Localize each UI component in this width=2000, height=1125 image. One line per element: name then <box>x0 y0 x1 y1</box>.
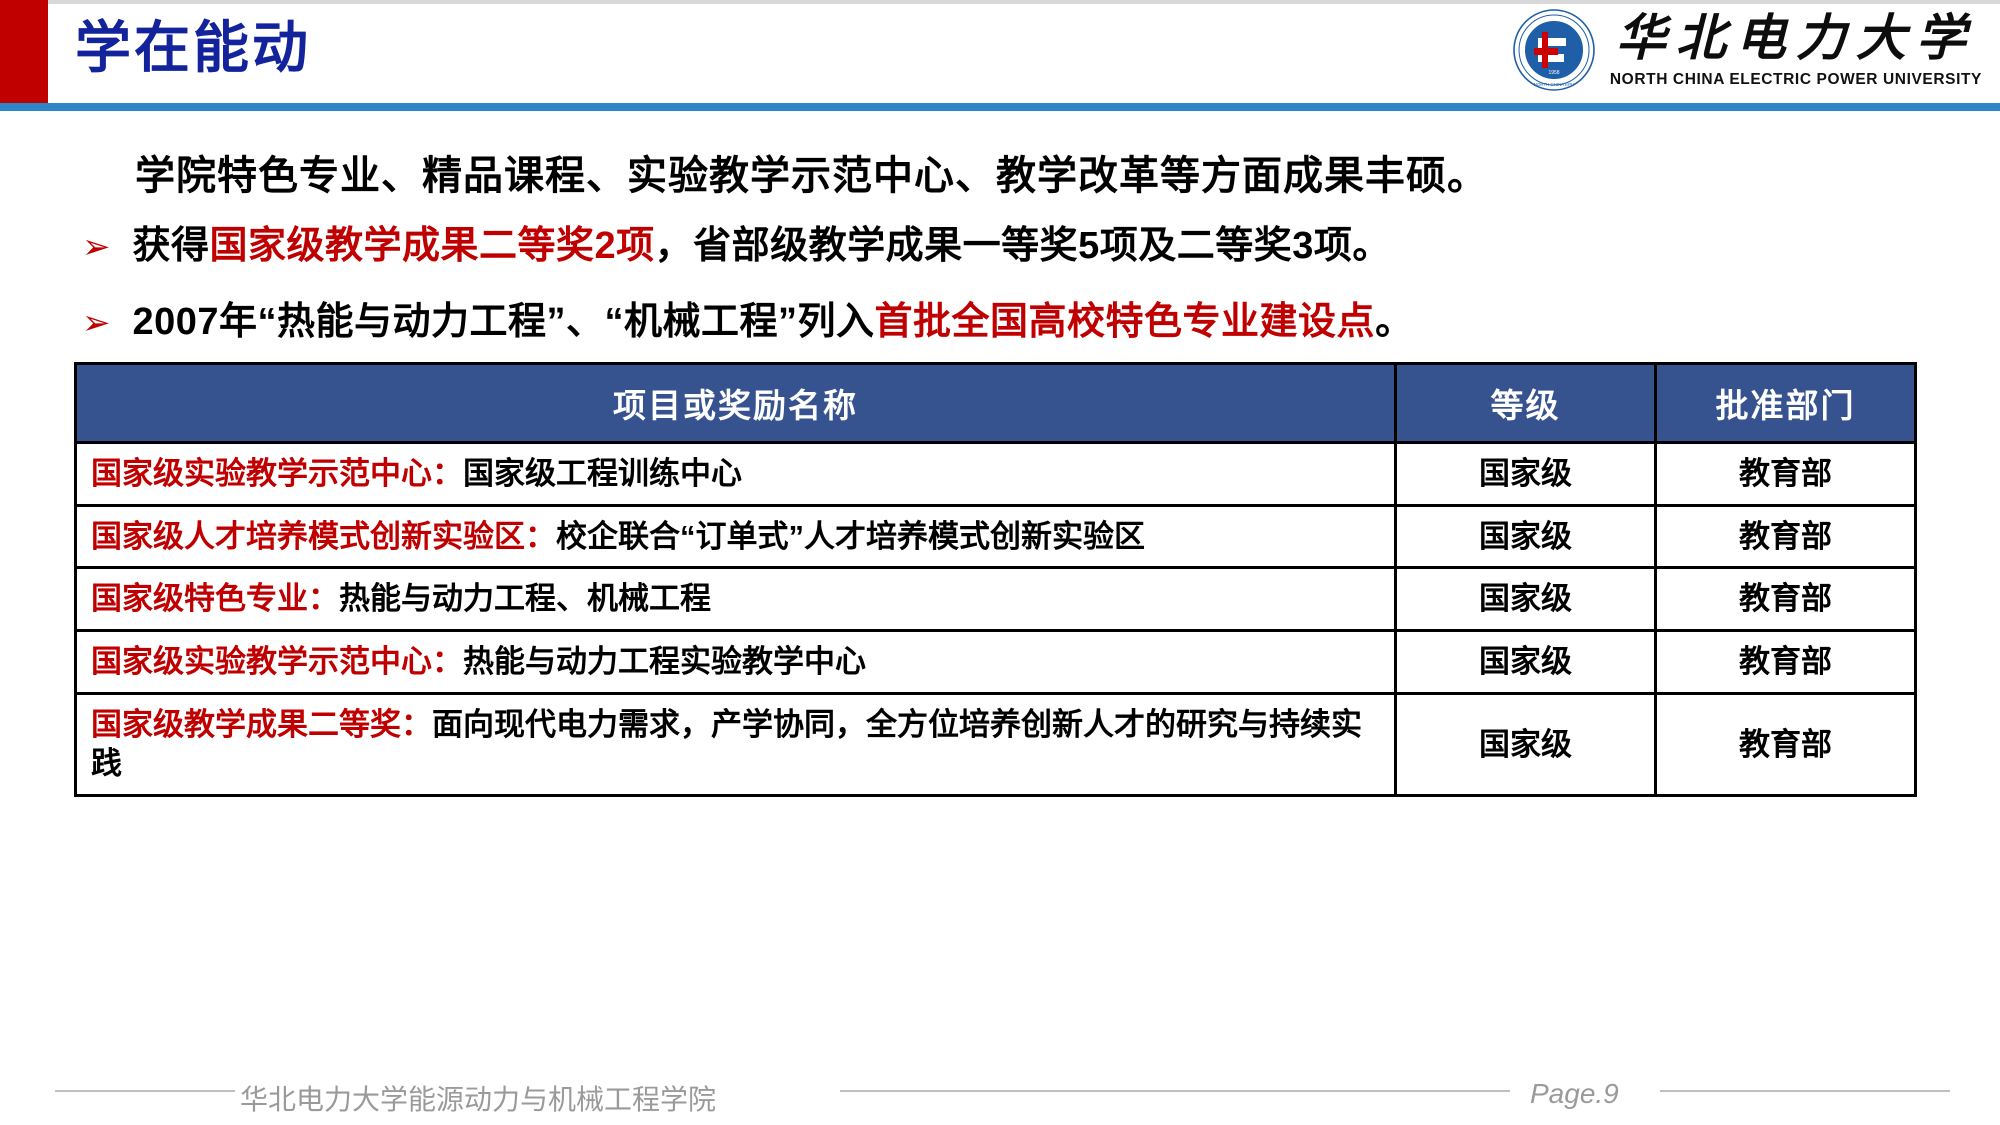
logo-name-en: NORTH CHINA ELECTRIC POWER UNIVERSITY <box>1610 72 1982 88</box>
column-header-dept: 批准部门 <box>1656 364 1916 443</box>
project-name-detail: 国家级工程训练中心 <box>463 456 742 491</box>
cell-project-name: 国家级实验教学示范中心：国家级工程训练中心 <box>76 443 1396 506</box>
intro-paragraph: 学院特色专业、精品课程、实验教学示范中心、教学改革等方面成果丰硕。 <box>135 143 1488 201</box>
bullet-2-seg-1: 首批全国高校特色专业建设点 <box>875 301 1376 343</box>
project-name-highlight: 国家级实验教学示范中心： <box>91 644 463 679</box>
footer-rule-center <box>840 1090 1510 1092</box>
header-white-rule <box>0 111 2000 114</box>
table-header-row: 项目或奖励名称 等级 批准部门 <box>76 364 1916 443</box>
project-name-detail: 热能与动力工程、机械工程 <box>339 581 711 616</box>
footer-organization: 华北电力大学能源动力与机械工程学院 <box>240 1078 716 1118</box>
bullet-1-seg-2: ，省部级教学成果一等奖5项及二等奖3项。 <box>655 225 1391 267</box>
footer-rule-right <box>1660 1090 1950 1092</box>
bullet-arrow-icon: ➢ <box>82 230 111 264</box>
table-row: 国家级教学成果二等奖：面向现代电力需求，产学协同，全方位培养创新人才的研究与持续… <box>76 693 1916 795</box>
svg-text:1958: 1958 <box>1548 70 1559 76</box>
cell-project-name: 国家级特色专业：热能与动力工程、机械工程 <box>76 568 1396 631</box>
cell-project-name: 国家级教学成果二等奖：面向现代电力需求，产学协同，全方位培养创新人才的研究与持续… <box>76 693 1396 795</box>
project-name-detail: 热能与动力工程实验教学中心 <box>463 644 866 679</box>
header-top-rule <box>48 0 2000 4</box>
cell-dept: 教育部 <box>1656 631 1916 694</box>
bullet-1-seg-0: 获得 <box>133 225 210 267</box>
cell-dept: 教育部 <box>1656 568 1916 631</box>
table-row: 国家级人才培养模式创新实验区：校企联合“订单式”人才培养模式创新实验区 国家级 … <box>76 505 1916 568</box>
cell-dept: 教育部 <box>1656 693 1916 795</box>
project-name-highlight: 国家级人才培养模式创新实验区： <box>91 519 556 554</box>
cell-project-name: 国家级实验教学示范中心：热能与动力工程实验教学中心 <box>76 631 1396 694</box>
ncepu-emblem-icon: 1958 NORTH CHINA EPU <box>1512 8 1596 92</box>
cell-level: 国家级 <box>1396 631 1656 694</box>
svg-text:NORTH CHINA EPU: NORTH CHINA EPU <box>1534 82 1574 87</box>
cell-level: 国家级 <box>1396 693 1656 795</box>
column-header-level: 等级 <box>1396 364 1656 443</box>
project-name-highlight: 国家级特色专业： <box>91 581 339 616</box>
footer-page-number: Page.9 <box>1530 1078 1619 1110</box>
header-blue-rule <box>0 103 2000 111</box>
project-name-highlight: 国家级教学成果二等奖： <box>91 707 432 742</box>
cell-level: 国家级 <box>1396 568 1656 631</box>
bullet-1-seg-1: 国家级教学成果二等奖2项 <box>210 225 655 267</box>
table-row: 国家级实验教学示范中心：热能与动力工程实验教学中心 国家级 教育部 <box>76 631 1916 694</box>
bullet-item-2: ➢ 2007年“热能与动力工程”、“机械工程”列入首批全国高校特色专业建设点。 <box>82 290 1414 345</box>
university-logo: 1958 NORTH CHINA EPU 华北电力大学 NORTH CHINA … <box>1512 8 1982 92</box>
logo-name-cn: 华北电力大学 <box>1616 13 1976 63</box>
bullet-2-seg-0: 2007年“热能与动力工程”、“机械工程”列入 <box>133 301 875 343</box>
bullet-text-2: 2007年“热能与动力工程”、“机械工程”列入首批全国高校特色专业建设点。 <box>133 290 1414 345</box>
table-row: 国家级特色专业：热能与动力工程、机械工程 国家级 教育部 <box>76 568 1916 631</box>
cell-dept: 教育部 <box>1656 505 1916 568</box>
column-header-name: 项目或奖励名称 <box>76 364 1396 443</box>
awards-table: 项目或奖励名称 等级 批准部门 国家级实验教学示范中心：国家级工程训练中心 国家… <box>74 362 1917 797</box>
table-row: 国家级实验教学示范中心：国家级工程训练中心 国家级 教育部 <box>76 443 1916 506</box>
bullet-2-seg-2: 。 <box>1375 301 1414 343</box>
project-name-detail: 校企联合“订单式”人才培养模式创新实验区 <box>556 519 1145 554</box>
bullet-text-1: 获得国家级教学成果二等奖2项，省部级教学成果一等奖5项及二等奖3项。 <box>133 214 1391 269</box>
footer-rule-left <box>55 1090 235 1092</box>
cell-dept: 教育部 <box>1656 443 1916 506</box>
cell-project-name: 国家级人才培养模式创新实验区：校企联合“订单式”人才培养模式创新实验区 <box>76 505 1396 568</box>
header-red-accent-bar <box>0 0 48 103</box>
page-title: 学在能动 <box>75 12 311 84</box>
project-name-highlight: 国家级实验教学示范中心： <box>91 456 463 491</box>
bullet-item-1: ➢ 获得国家级教学成果二等奖2项，省部级教学成果一等奖5项及二等奖3项。 <box>82 214 1391 269</box>
cell-level: 国家级 <box>1396 443 1656 506</box>
cell-level: 国家级 <box>1396 505 1656 568</box>
slide-header: 学在能动 1958 NORTH CHINA EPU 华北电力大学 NORTH C… <box>0 0 2000 113</box>
bullet-arrow-icon: ➢ <box>82 306 111 340</box>
